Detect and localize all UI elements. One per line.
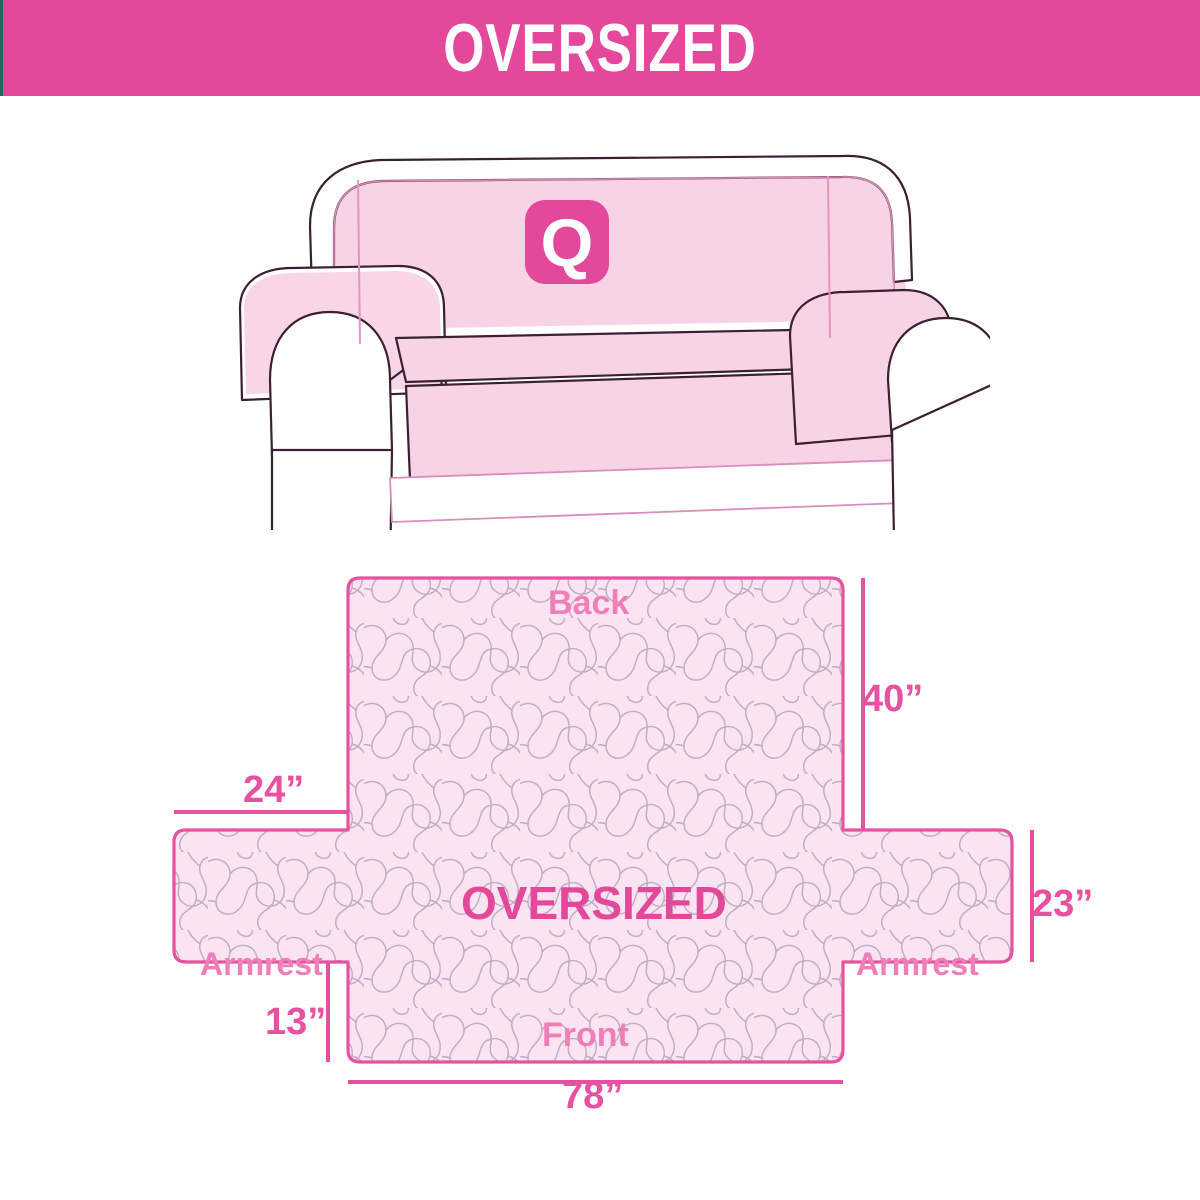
sofa-illustration: Q	[230, 130, 990, 530]
dimension-label-armrest-width: 24”	[243, 771, 304, 809]
sofa-left-arm-front	[272, 450, 392, 530]
panel-label-front: Front	[542, 1018, 629, 1052]
sofa-left-arm-roll	[270, 312, 392, 456]
cover-shape-group	[174, 578, 1012, 1062]
panel-label-back: Back	[548, 586, 629, 620]
diagram-center-label: OVERSIZED	[461, 880, 727, 926]
header-banner: OVERSIZED	[0, 0, 1200, 96]
dimension-label-front-depth: 13”	[265, 1003, 326, 1041]
page-root: OVERSIZED	[0, 0, 1200, 1200]
page-title: OVERSIZED	[443, 14, 757, 82]
dimension-label-total-width: 78”	[562, 1077, 623, 1115]
cover-outline	[174, 578, 1012, 1062]
panel-label-armrest-right: Armrest	[856, 948, 979, 980]
dimension-label-back-height: 40”	[862, 680, 923, 718]
panel-label-armrest-left: Armrest	[200, 948, 323, 980]
brand-logo-letter: Q	[541, 205, 594, 281]
brand-logo: Q	[525, 200, 609, 284]
header-edge-accent	[0, 0, 3, 96]
dimension-label-armrest-height: 23”	[1032, 885, 1093, 923]
